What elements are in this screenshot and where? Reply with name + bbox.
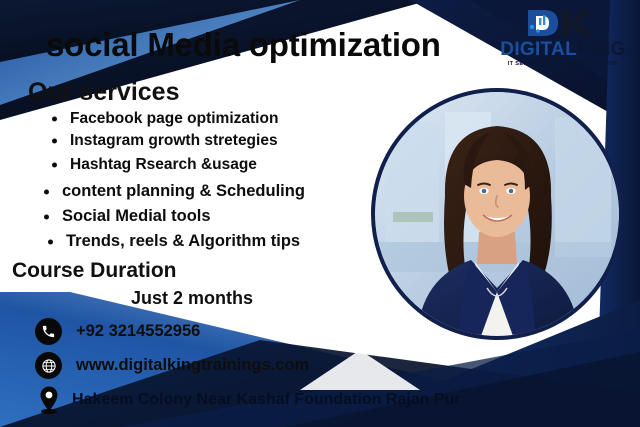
website-url: www.digitalkingtrainings.com xyxy=(76,356,309,375)
logo-wordmark: DIGITALKING xyxy=(497,40,629,60)
logo-word-secondary: KING xyxy=(577,39,626,60)
list-item: Hashtag Rsearch &usage xyxy=(44,156,305,174)
bullet-icon xyxy=(44,189,49,194)
service-label: Hashtag Rsearch &usage xyxy=(70,156,257,173)
service-label: Social Medial tools xyxy=(62,207,211,225)
contact-address-row[interactable]: Hakeem Colony Near Kashaf Foundation Raj… xyxy=(35,386,461,413)
phone-icon xyxy=(35,318,62,345)
portrait-illustration xyxy=(375,92,619,336)
list-item: Trends, reels & Algorithm tips xyxy=(40,232,305,251)
phone-number: +92 3214552956 xyxy=(76,322,200,341)
list-item: Instagram growth stretegies xyxy=(44,132,305,150)
list-item: Facebook page optimization xyxy=(44,110,305,128)
services-list: Facebook page optimization Instagram gro… xyxy=(44,110,305,251)
poster-canvas: DIGITALKING IT SERVICES & TRAINING INSTI… xyxy=(0,0,640,427)
bullet-icon xyxy=(44,214,49,219)
bullet-icon xyxy=(48,239,53,244)
location-pin-icon xyxy=(35,386,62,413)
service-label: Instagram growth stretegies xyxy=(70,132,278,149)
course-duration-label: Course Duration xyxy=(12,259,177,283)
globe-icon xyxy=(35,352,62,379)
service-label: content planning & Scheduling xyxy=(62,182,305,200)
course-duration-value: Just 2 months xyxy=(131,288,253,309)
service-label: Facebook page optimization xyxy=(70,110,278,127)
portrait-photo xyxy=(371,88,623,340)
bullet-icon xyxy=(52,139,57,144)
page-title: social Media optimization xyxy=(46,26,441,64)
bullet-icon xyxy=(52,163,57,168)
service-label: Trends, reels & Algorithm tips xyxy=(66,232,300,250)
services-heading: Our services xyxy=(28,78,180,107)
logo-word-primary: DIGITAL xyxy=(500,39,577,60)
logo-tagline: IT SERVICES & TRAINING INSTITUTE xyxy=(497,60,629,68)
list-item: content planning & Scheduling xyxy=(36,182,305,201)
dk-monogram-icon xyxy=(518,6,608,40)
list-item: Social Medial tools xyxy=(36,207,305,226)
address-text: Hakeem Colony Near Kashaf Foundation Raj… xyxy=(72,391,461,409)
contact-phone-row[interactable]: +92 3214552956 xyxy=(35,318,200,345)
contact-website-row[interactable]: www.digitalkingtrainings.com xyxy=(35,352,309,379)
bullet-icon xyxy=(52,117,57,122)
brand-logo: DIGITALKING IT SERVICES & TRAINING INSTI… xyxy=(497,6,629,74)
